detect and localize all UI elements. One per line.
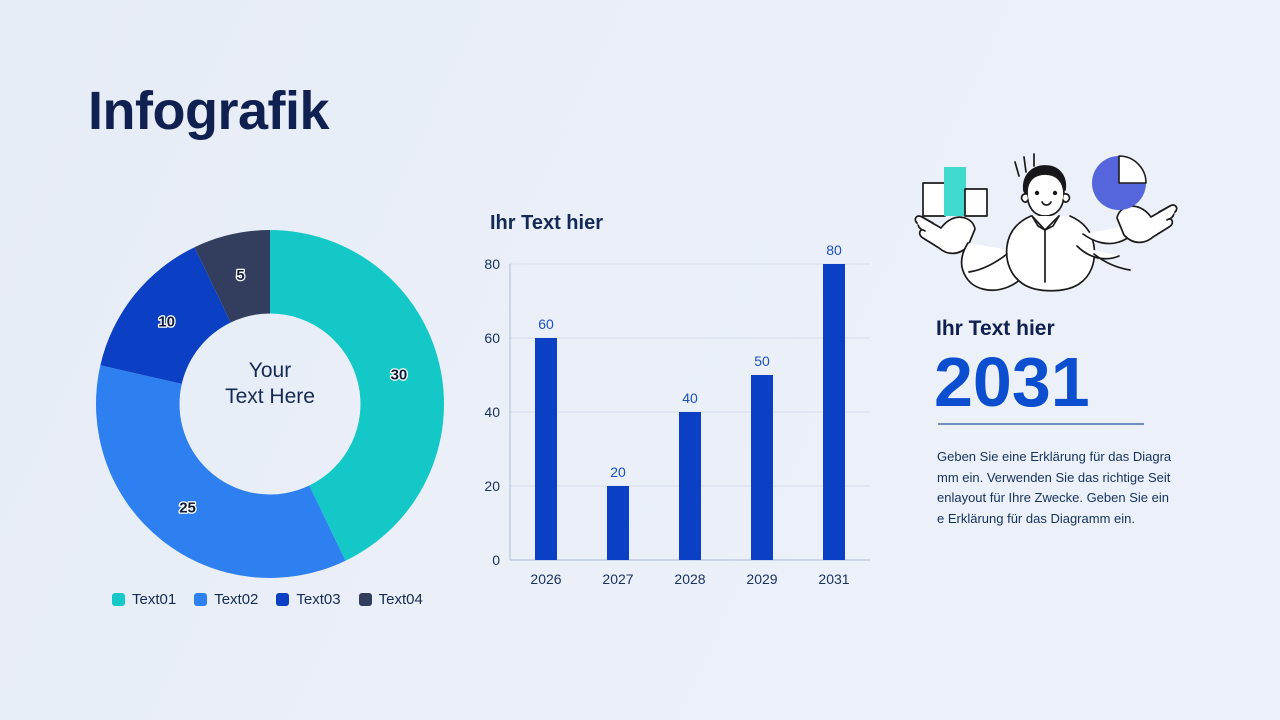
y-tick-label: 20	[484, 478, 500, 494]
legend-swatch-icon	[359, 593, 372, 606]
bar-2029[interactable]	[751, 375, 773, 560]
x-tick-label-2031: 2031	[818, 571, 849, 587]
bar-value-label-2027: 20	[610, 464, 626, 480]
donut-slices[interactable]	[96, 230, 444, 578]
bar-value-label-2026: 60	[538, 316, 554, 332]
right-panel-paragraph: Geben Sie eine Erklärung für das Diagram…	[937, 447, 1175, 529]
legend-label: Text02	[214, 591, 258, 608]
right-panel-divider	[938, 423, 1144, 425]
donut-label-text01: 30	[391, 367, 408, 384]
bar-value-label-2028: 40	[682, 390, 698, 406]
right-panel: Ihr Text hier 2031 Geben Sie eine Erklär…	[905, 150, 1190, 529]
legend-item-text03[interactable]: Text03	[276, 591, 340, 608]
donut-label-text03: 10	[158, 314, 175, 331]
bar-2031[interactable]	[823, 264, 845, 560]
y-tick-label: 40	[484, 404, 500, 420]
legend-label: Text03	[296, 591, 340, 608]
donut-legend: Text01Text02Text03Text04	[112, 591, 423, 608]
y-tick-label: 80	[484, 256, 500, 272]
right-panel-big-number: 2031	[934, 345, 1190, 419]
page-title: Infografik	[88, 84, 329, 138]
bar-chart-panel: Ihr Text hier 020406080 6020405080 20262…	[466, 206, 878, 618]
bar-2026[interactable]	[535, 338, 557, 560]
person-holding-charts-illustration	[911, 150, 1181, 295]
legend-label: Text04	[379, 591, 423, 608]
bar-2027[interactable]	[607, 486, 629, 560]
bar-chart-svg: 020406080 6020405080 2026202720282029203…	[466, 242, 878, 618]
right-panel-subtitle: Ihr Text hier	[936, 317, 1190, 341]
donut-chart: 3025105 Your Text Here	[96, 228, 444, 580]
bar-chart-x-axis-labels: 20262027202820292031	[530, 571, 849, 587]
donut-label-text02: 25	[179, 499, 196, 516]
legend-swatch-icon	[194, 593, 207, 606]
legend-item-text01[interactable]: Text01	[112, 591, 176, 608]
x-tick-label-2027: 2027	[602, 571, 633, 587]
legend-item-text04[interactable]: Text04	[359, 591, 423, 608]
donut-slice-text02[interactable]	[96, 365, 345, 578]
legend-label: Text01	[132, 591, 176, 608]
illustration-bar-middle	[944, 167, 966, 216]
bar-value-label-2029: 50	[754, 353, 770, 369]
legend-swatch-icon	[276, 593, 289, 606]
x-tick-label-2029: 2029	[746, 571, 777, 587]
y-tick-label: 60	[484, 330, 500, 346]
bar-chart-y-axis-labels: 020406080	[484, 256, 500, 568]
bar-2028[interactable]	[679, 412, 701, 560]
x-tick-label-2026: 2026	[530, 571, 561, 587]
legend-item-text02[interactable]: Text02	[194, 591, 258, 608]
legend-swatch-icon	[112, 593, 125, 606]
bar-value-label-2031: 80	[826, 242, 842, 258]
x-tick-label-2028: 2028	[674, 571, 705, 587]
illustration-pie-icon	[1092, 156, 1146, 210]
slide-canvas: Infografik 3025105 Your Text Here Text01…	[0, 0, 1280, 720]
y-tick-label: 0	[492, 552, 500, 568]
bar-chart-title: Ihr Text hier	[490, 212, 603, 235]
donut-chart-svg: 3025105	[96, 228, 444, 580]
donut-label-text04: 5	[236, 267, 244, 284]
illustration-bar-left	[923, 183, 945, 216]
illustration-bar-right	[965, 189, 987, 216]
